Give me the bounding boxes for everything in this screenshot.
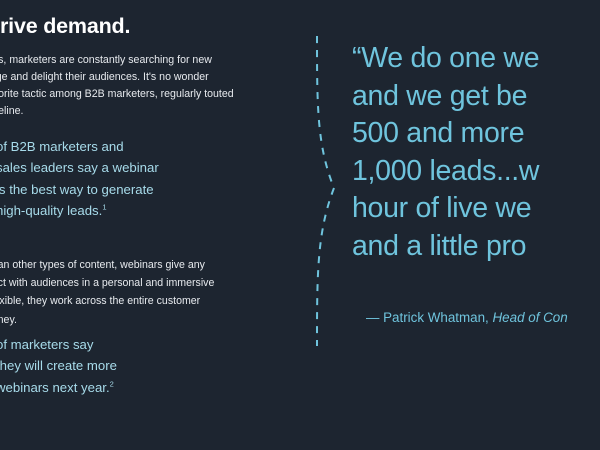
stat-text: of marketers say they will create more w… bbox=[0, 334, 236, 398]
left-content-column: rive demand. oals, marketers are constan… bbox=[0, 0, 258, 450]
footnote-marker: 2 bbox=[110, 379, 114, 388]
intro-paragraph: oals, marketers are constantly searching… bbox=[0, 52, 234, 121]
quote-attribution: — Patrick Whatman, Head of Con bbox=[366, 310, 568, 325]
dashed-curve-icon bbox=[300, 36, 360, 346]
footnote-marker: 1 bbox=[102, 203, 106, 212]
page-title: rive demand. bbox=[0, 14, 130, 39]
dashed-divider bbox=[300, 36, 360, 346]
slide-page: rive demand. oals, marketers are constan… bbox=[0, 0, 600, 450]
quote-column: “We do one we and we get be 500 and more… bbox=[352, 40, 600, 370]
stat-text-body: of B2B marketers and sales leaders say a… bbox=[0, 139, 159, 218]
stat-text-body: of marketers say they will create more w… bbox=[0, 337, 117, 395]
quote-author: — Patrick Whatman, bbox=[366, 310, 489, 325]
quote-author-role: Head of Con bbox=[493, 310, 568, 325]
pull-quote: “We do one we and we get be 500 and more… bbox=[352, 40, 600, 266]
body-paragraph: e than other types of content, webinars … bbox=[0, 256, 238, 329]
stat-text: of B2B marketers and sales leaders say a… bbox=[0, 136, 236, 222]
